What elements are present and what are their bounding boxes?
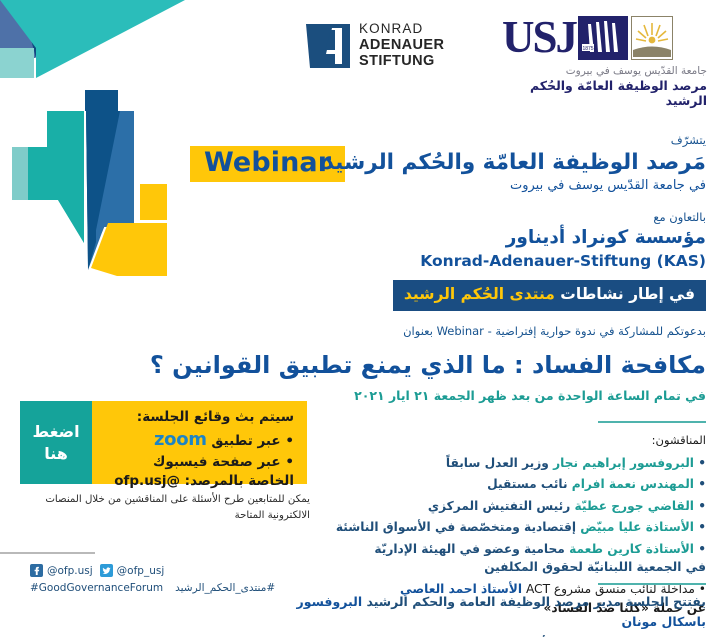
twitter-icon — [100, 564, 113, 577]
usj-logo: USJ 1875 — [502, 16, 707, 108]
honored-label: يتشرّف — [286, 132, 706, 149]
kas-line-2: ADENAUER — [359, 37, 444, 54]
broadcast-option-zoom: • عبر تطبيق zoom — [100, 427, 294, 453]
event-datetime: في تمام الساعة الواحدة من بعد ظهر الجمعة… — [286, 387, 706, 405]
kas-wordmark: KONRAD ADENAUER STIFTUNG — [359, 21, 444, 70]
broadcast-cta-box[interactable]: سيتم بث وقائع الجلسة: • عبر تطبيق zoom •… — [20, 401, 307, 484]
social-links: @ofp.usj @ofp_usj #GoodGovernanceForum #… — [30, 564, 330, 594]
click-here-line-1: اضغط — [32, 421, 79, 443]
kas-line-1: KONRAD — [359, 21, 444, 37]
page-title: مكافحة الفساد : ما الذي يمنع تطبيق القوا… — [286, 350, 706, 381]
divider-teal-bottom — [598, 583, 706, 585]
speaker-name: الأستاذة كارين طعمة — [569, 542, 694, 556]
usj-observatory-name: مرصد الوظيفة العامّة والحُكم الرشيد — [502, 78, 707, 108]
usj-wordmark: USJ — [502, 17, 576, 58]
usj-sun-seal-icon — [631, 16, 673, 60]
moderator-line-1-prefix: يفتتح الجلسة مدير مرصد الوظيفة العامة وا… — [362, 594, 706, 609]
facebook-icon — [30, 564, 43, 577]
divider-teal-top — [598, 421, 706, 423]
framework-highlight: منتدى الحُكم الرشيد — [404, 285, 555, 303]
speaker-role-continued: في الجمعية اللبنانيّة لحقوق المكلفين — [286, 558, 706, 577]
twitter-handle: @ofp_usj — [117, 565, 165, 577]
moderator-line-1: يفتتح الجلسة مدير مرصد الوظيفة العامة وا… — [256, 592, 706, 633]
click-here-line-2: هنا — [44, 443, 68, 465]
speaker-role: رئيس التفتيش المركزي — [428, 499, 575, 513]
kas-line-3: STIFTUNG — [359, 53, 444, 70]
list-item: • البروفسور إبراهيم نجار وزير العدل سابق… — [286, 454, 706, 473]
hashtag-english: #GoodGovernanceForum — [30, 582, 163, 594]
organizer-affiliation: في جامعة القدّيس يوسف في بيروت — [286, 177, 706, 196]
bullet-marker: • — [698, 477, 706, 491]
broadcast-handle-prefix: الخاصة بالمرصد: — [180, 473, 294, 489]
speaker-name: الأستاذة عليا مبيّض — [580, 520, 694, 534]
facebook-link[interactable]: @ofp.usj — [30, 564, 93, 577]
usj-subtitle: جامعة القدّيس يوسف في بيروت — [502, 65, 707, 77]
speaker-role: وزير العدل سابقاً — [446, 456, 553, 470]
speaker-role: إقتصادية ومتخصّصة في الأسواق الناشئة — [336, 520, 580, 534]
corner-decoration — [0, 0, 210, 90]
broadcast-heading: سيتم بث وقائع الجلسة: — [100, 408, 294, 427]
session-moderators: يفتتح الجلسة مدير مرصد الوظيفة العامة وا… — [256, 592, 706, 637]
organizer-name: مَرصد الوظيفة العامّة والحُكم الرشيد — [286, 149, 706, 177]
moderator-line-2: ويدير النقاش الإعلامي والأستاذ الجامعي ا… — [256, 633, 706, 637]
webinar-poster: Webinar KONRAD ADENAUER STIFTUNG USJ — [0, 0, 720, 637]
speaker-name: القاضي جورج عطيّة — [574, 499, 693, 513]
kas-a-mark-icon — [306, 24, 350, 68]
zoom-wordmark: zoom — [154, 429, 207, 450]
broadcast-facebook-handle-line: الخاصة بالمرصد: @ofp.usj — [100, 472, 294, 491]
speaker-name: المهندس نعمة افرام — [572, 477, 694, 491]
usj-year-label: 1875 — [582, 46, 593, 52]
bubble-navy-small — [85, 90, 118, 111]
broadcast-option-zoom-prefix: • عبر تطبيق — [207, 433, 294, 449]
main-content-column: يتشرّف مَرصد الوظيفة العامّة والحُكم الر… — [286, 132, 706, 620]
bullet-marker: • — [698, 456, 706, 470]
broadcast-info-panel: سيتم بث وقائع الجلسة: • عبر تطبيق zoom •… — [92, 401, 307, 484]
bubble-navy-tail — [86, 111, 96, 270]
social-handles-row: @ofp.usj @ofp_usj — [30, 564, 330, 577]
framework-prefix: في إطار نشاطات — [555, 285, 695, 303]
divider-grey — [0, 552, 95, 554]
broadcast-facebook-handle: @ofp.usj — [114, 473, 180, 489]
deco-lightteal-slab — [0, 48, 34, 78]
facebook-handle: @ofp.usj — [47, 565, 93, 577]
partner-name-ar: مؤسسة كونراد أديناور — [286, 226, 706, 251]
click-here-button[interactable]: اضغط هنا — [20, 401, 92, 484]
speaker-role: نائب مستقيل — [487, 477, 572, 491]
list-item: • الأستاذة كارين طعمة محامية وعضو في اله… — [286, 540, 706, 577]
bullet-marker: • — [698, 542, 706, 556]
twitter-link[interactable]: @ofp_usj — [100, 564, 165, 577]
list-item: • القاضي جورج عطيّة رئيس التفتيش المركزي — [286, 497, 706, 516]
invitation-line: بدعوتكم للمشاركة في ندوة حوارية إفتراضية… — [286, 323, 706, 340]
bullet-marker: • — [698, 499, 706, 513]
speaker-name: البروفسور إبراهيم نجار — [553, 456, 694, 470]
bubble-yellow-square — [140, 184, 167, 220]
usj-pillars-icon: 1875 — [578, 16, 628, 60]
bullet-marker: • — [698, 520, 706, 534]
usj-logo-row: USJ 1875 — [502, 16, 707, 60]
audience-questions-note: يمكن للمتابعين طرح الأسئلة على المناقشين… — [20, 492, 310, 524]
panel-label: المناقشون: — [286, 433, 706, 447]
framework-banner: في إطار نشاطات منتدى الحُكم الرشيد — [393, 280, 706, 310]
partner-name-en: Konrad-Adenauer-Stiftung (KAS) — [286, 251, 706, 271]
speaker-role: محامية وعضو في الهيئة الإداريّة — [374, 542, 569, 556]
cooperation-label: بالتعاون مع — [286, 209, 706, 226]
list-item: • المهندس نعمة افرام نائب مستقيل — [286, 475, 706, 494]
list-item: • الأستاذة عليا مبيّض إقتصادية ومتخصّصة … — [286, 518, 706, 537]
bubble-teal-body — [28, 147, 84, 243]
kas-logo: KONRAD ADENAUER STIFTUNG — [306, 21, 444, 70]
broadcast-option-facebook: • عبر صفحة فيسبوك — [100, 453, 294, 472]
